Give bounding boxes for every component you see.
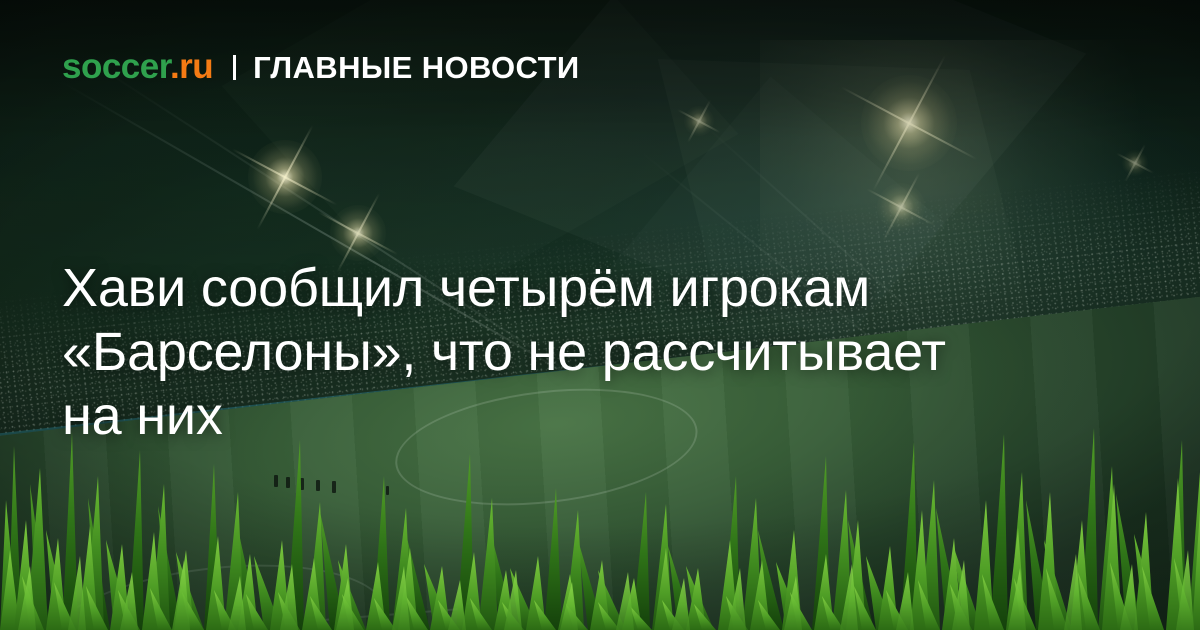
header-separator [233,55,236,80]
header-kicker: ГЛАВНЫЕ НОВОСТИ [253,52,579,83]
headline-line-2: «Барселоны», что не рассчитывает [62,321,1122,385]
headline-line-3: на них [62,385,1122,449]
logo-domain-part: .ru [170,47,213,86]
logo-name-part: soccer [62,47,170,86]
site-logo[interactable]: soccer.ru [62,49,213,84]
news-share-card: soccer.ru ГЛАВНЫЕ НОВОСТИ Хави сообщил ч… [0,0,1200,630]
brand-header: soccer.ru ГЛАВНЫЕ НОВОСТИ [62,49,580,84]
headline: Хави сообщил четырём игрокам «Барселоны»… [62,257,1122,448]
headline-line-1: Хави сообщил четырём игрокам [62,257,1122,321]
